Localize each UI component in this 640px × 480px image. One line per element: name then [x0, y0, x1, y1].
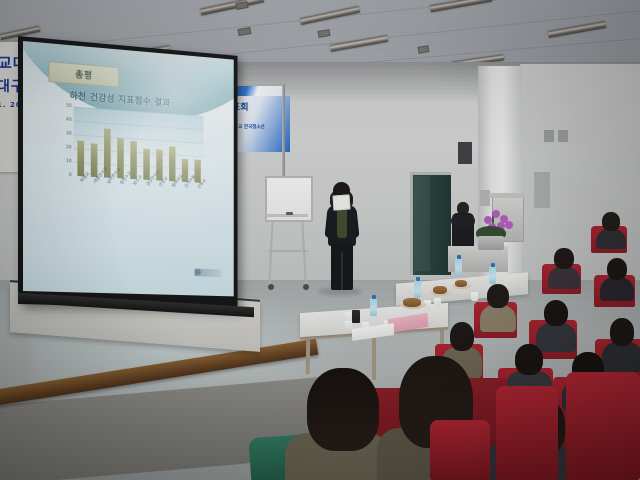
- wall-sign: [544, 130, 554, 142]
- slide-logo-mark: [194, 269, 200, 276]
- wall-speaker: [458, 142, 472, 164]
- presenter-leg-split: [341, 252, 343, 290]
- chart-bar: [77, 140, 84, 176]
- chart-y-tick-label: 30: [66, 131, 72, 136]
- slide: 총평 하천 건강성 지표점수 결과 01020304050 학영교대용천수교남아…: [23, 41, 234, 296]
- ceiling-vent: [417, 45, 429, 54]
- chart-bar: [169, 146, 175, 181]
- presenter-top: [337, 208, 347, 238]
- chart-bar: [143, 148, 149, 180]
- wall-sign: [558, 130, 568, 142]
- chart-x-axis-labels: 학영교대용천수교남아천수교합천수교남소교금강천수교안강교범머대교강가마을산동교: [74, 178, 204, 223]
- presenter: [325, 182, 359, 292]
- drink-can[interactable]: [352, 310, 360, 323]
- fluorescent-light-icon: [300, 6, 360, 25]
- ceiling-vent: [235, 1, 248, 10]
- projection-screen[interactable]: 총평 하천 건강성 지표점수 결과 01020304050 학영교대용천수교남아…: [18, 36, 258, 312]
- screen-surface: 총평 하천 건강성 지표점수 결과 01020304050 학영교대용천수교남아…: [23, 41, 234, 296]
- presenter-paper: [332, 194, 350, 210]
- fluorescent-light-icon: [548, 21, 606, 38]
- chart-plot-area: [74, 107, 204, 183]
- attendee-shoulders: [451, 215, 475, 227]
- chart-y-tick-label: 40: [66, 117, 72, 122]
- chart-bar: [90, 144, 97, 177]
- chart-y-axis: 01020304050: [58, 106, 71, 176]
- slide-header-badge-label: 총평: [75, 67, 93, 81]
- chart-y-tick-label: 20: [66, 145, 72, 150]
- door-panel: [414, 176, 430, 271]
- chart-gridline: [74, 120, 204, 130]
- auditorium-photo: 교대 대구 · 1. 20(금) 1 표회 표회 대학교 한국청소년 총평 하천…: [0, 0, 640, 480]
- fluorescent-light-icon: [330, 35, 388, 52]
- green-chair[interactable]: [371, 421, 484, 480]
- podium-top: [489, 193, 525, 198]
- fluorescent-light-icon: [200, 0, 264, 16]
- chart-y-tick-label: 0: [69, 173, 72, 178]
- ceiling-vent: [237, 27, 251, 36]
- chart-y-tick-label: 10: [66, 159, 72, 164]
- ceiling-vent: [317, 29, 330, 38]
- chart-y-tick-label: 50: [66, 104, 72, 109]
- wall-panel: [534, 172, 550, 208]
- fluorescent-light-icon: [430, 0, 492, 12]
- table-leg: [372, 338, 376, 380]
- flower-pot: [478, 236, 504, 250]
- banner-pole: [282, 84, 285, 208]
- chart-gridline: [74, 134, 204, 143]
